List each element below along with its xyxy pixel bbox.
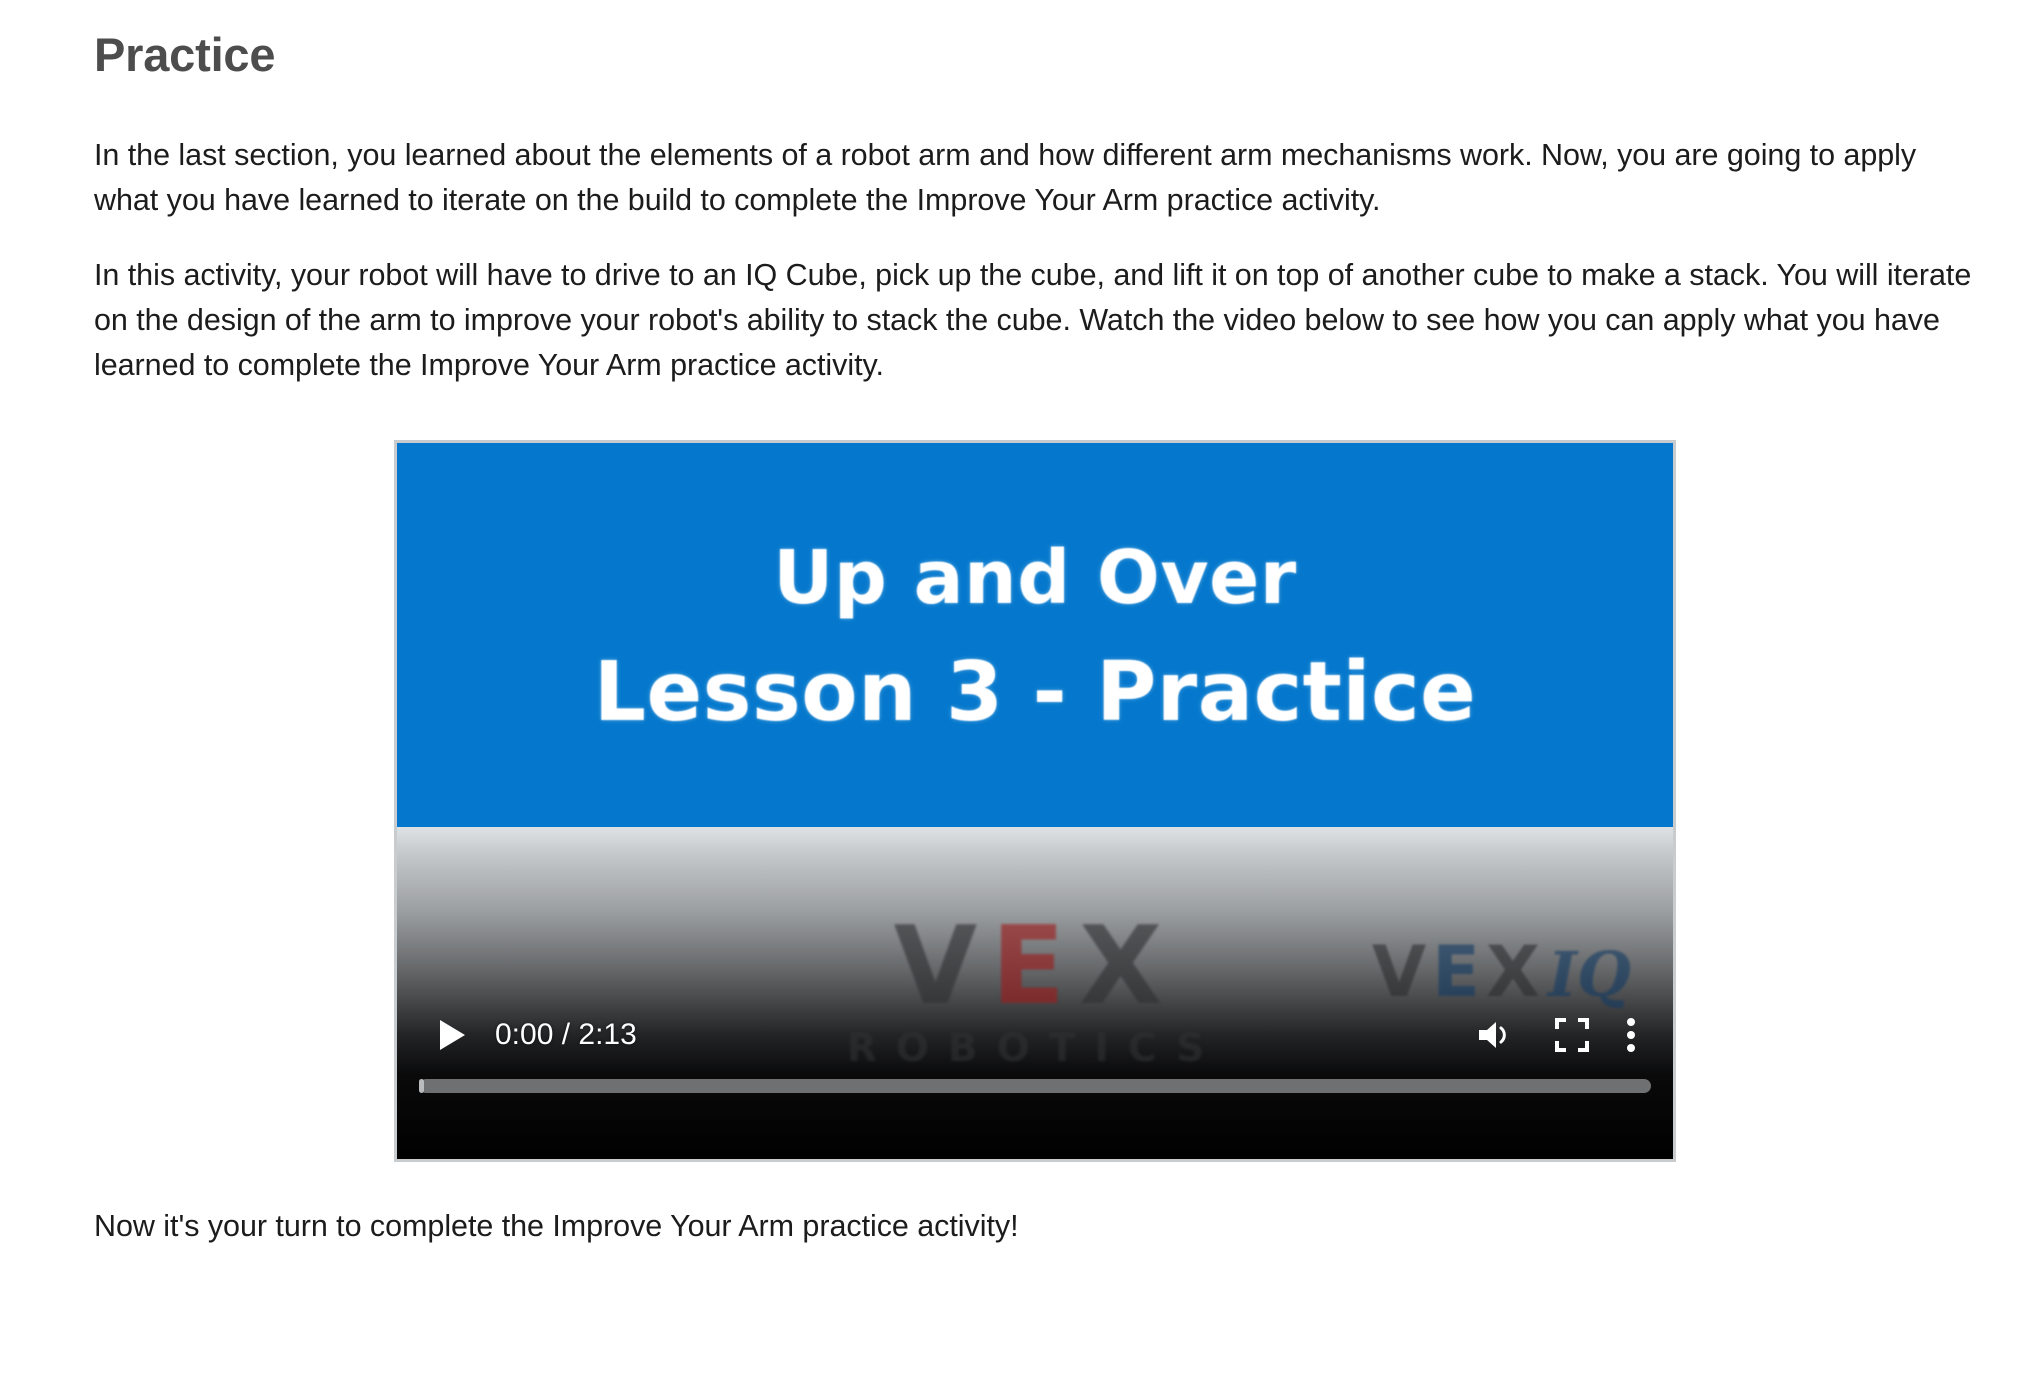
lesson-page: Practice In the last section, you learne… xyxy=(0,0,2036,1392)
progress-bar[interactable] xyxy=(419,1079,1651,1093)
poster-title-line-1: Up and Over xyxy=(773,539,1297,619)
volume-icon xyxy=(1476,1018,1516,1052)
volume-button[interactable] xyxy=(1471,1012,1521,1058)
progress-bar-fill xyxy=(419,1079,424,1093)
video-poster[interactable]: Up and Over Lesson 3 - Practice xyxy=(397,443,1673,833)
fullscreen-icon xyxy=(1555,1018,1589,1052)
vex-iq-wordmark: VEX xyxy=(1372,931,1546,1013)
play-icon xyxy=(440,1020,465,1050)
intro-paragraph: In the last section, you learned about t… xyxy=(94,133,1976,223)
video-control-bar: VEX ROBOTICS VEX IQ 0:00 / 2:13 xyxy=(397,827,1673,1159)
vex-iq-letter-x: X xyxy=(1486,931,1546,1013)
vex-wordmark: VEX xyxy=(894,913,1177,1021)
more-options-button[interactable] xyxy=(1619,1012,1643,1058)
video-player[interactable]: Up and Over Lesson 3 - Practice VEX ROBO… xyxy=(394,440,1676,1162)
iq-wordmark: IQ xyxy=(1548,938,1631,1011)
closing-paragraph: Now it's your turn to complete the Impro… xyxy=(94,1204,1976,1249)
vex-iq-letter-v: V xyxy=(1372,931,1432,1013)
time-display: 0:00 / 2:13 xyxy=(495,1018,637,1052)
page-title: Practice xyxy=(94,0,1976,85)
vex-iq-letter-e: E xyxy=(1432,931,1486,1013)
activity-paragraph: In this activity, your robot will have t… xyxy=(94,253,1976,387)
fullscreen-button[interactable] xyxy=(1547,1012,1597,1058)
play-button[interactable] xyxy=(427,1012,473,1058)
video-controls-row: 0:00 / 2:13 xyxy=(397,1007,1673,1063)
video-container: Up and Over Lesson 3 - Practice VEX ROBO… xyxy=(94,440,1976,1162)
more-options-icon xyxy=(1626,1017,1636,1053)
vex-iq-watermark: VEX IQ xyxy=(1372,931,1631,1013)
poster-title-line-2: Lesson 3 - Practice xyxy=(594,649,1476,738)
